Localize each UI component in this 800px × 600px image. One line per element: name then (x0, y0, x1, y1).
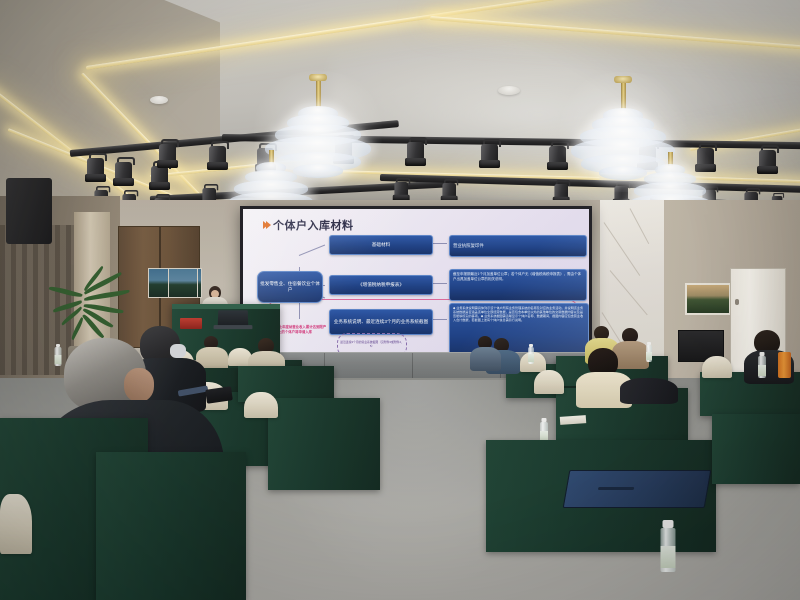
presentation-slide: 个体户入库材料 批发零售业、住宿餐饮业个体户 基础材料 营业执照复印件 《增值税… (243, 209, 589, 357)
white-covered-chair (0, 494, 32, 554)
flow-start-node: 批发零售业、住宿餐饮业个体户 (257, 271, 323, 303)
flow-node-row2: 《增值税纳税申报表》 (329, 275, 433, 295)
attendee (470, 336, 500, 368)
flow-detail-row2: 截至申报期最近1个月加盖单位公章；若个体户无《增值税纳税申报表》，需由个体户出具… (449, 269, 587, 301)
thermos-flask[interactable] (778, 352, 791, 378)
flow-connector (299, 245, 325, 256)
water-bottle[interactable] (646, 342, 652, 362)
flow-node-row3: 业务系统说明、最近连续3个月的业务系统截图 (329, 309, 433, 335)
smoke-detector (150, 96, 168, 104)
flow-detail-row1: 营业执照复印件 (449, 235, 587, 257)
green-skirted-table (96, 452, 246, 600)
document-folder[interactable] (563, 470, 712, 508)
green-skirted-table (712, 414, 800, 484)
conference-room-photo: 个体户入库材料 批发零售业、住宿餐饮业个体户 基础材料 营业执照复印件 《增值税… (0, 0, 800, 600)
double-chevron-icon (263, 221, 269, 229)
water-bottle[interactable] (758, 352, 766, 378)
presenter-laptop (218, 310, 249, 326)
slide-title: 个体户入库材料 (273, 217, 354, 233)
wall-artwork (168, 268, 198, 298)
water-bottle[interactable] (660, 520, 675, 572)
projection-screen: 个体户入库材料 批发零售业、住宿餐饮业个体户 基础材料 营业执照复印件 《增值税… (240, 206, 592, 360)
white-covered-chair (244, 392, 278, 418)
smoke-detector (498, 86, 520, 95)
white-covered-chair (534, 370, 564, 394)
white-covered-chair (702, 356, 732, 378)
slide-header: 个体户入库材料 (263, 217, 354, 233)
face (124, 368, 154, 402)
coat-on-chair (620, 378, 678, 404)
flow-node-row1: 基础材料 (329, 235, 433, 255)
green-skirted-table (268, 398, 380, 490)
framed-landscape-photo (685, 283, 731, 315)
water-bottle[interactable] (528, 344, 534, 364)
wall-speaker (6, 178, 52, 244)
